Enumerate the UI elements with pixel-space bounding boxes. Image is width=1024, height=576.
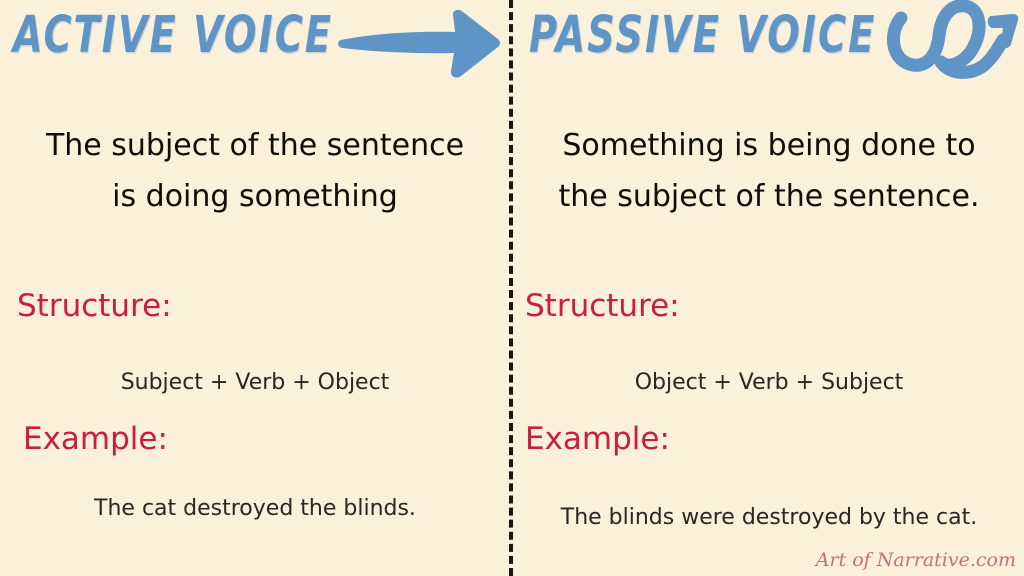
header-passive: PASSIVE VOICE	[519, 0, 1019, 86]
example-label-passive: Example:	[525, 421, 670, 457]
statement-active: The subject of the sentence is doing som…	[5, 120, 505, 222]
structure-label-passive: Structure:	[525, 288, 680, 324]
structure-value-active: Subject + Verb + Object	[5, 366, 505, 399]
column-active-voice: ACTIVE VOICE The subject of the sentence…	[5, 0, 505, 576]
page-title-active: ACTIVE VOICE	[13, 6, 333, 65]
attribution-credit: Art of Narrative.com	[816, 549, 1016, 571]
statement-passive: Something is being done to the subject o…	[519, 120, 1019, 222]
column-passive-voice: PASSIVE VOICE Something is being done to…	[519, 0, 1019, 576]
page-title-passive: PASSIVE VOICE	[529, 6, 876, 65]
infographic-poster: ACTIVE VOICE The subject of the sentence…	[0, 0, 1024, 576]
example-value-passive: The blinds were destroyed by the cat.	[519, 501, 1019, 534]
curly-loop-arrow-icon	[887, 0, 1024, 87]
dashed-divider	[509, 0, 513, 576]
structure-value-passive: Object + Verb + Subject	[519, 366, 1019, 399]
header-active: ACTIVE VOICE	[5, 0, 505, 86]
example-value-active: The cat destroyed the blinds.	[5, 492, 505, 525]
straight-arrow-right-icon	[335, 2, 505, 87]
example-label-active: Example:	[23, 421, 168, 457]
structure-label-active: Structure:	[17, 288, 172, 324]
